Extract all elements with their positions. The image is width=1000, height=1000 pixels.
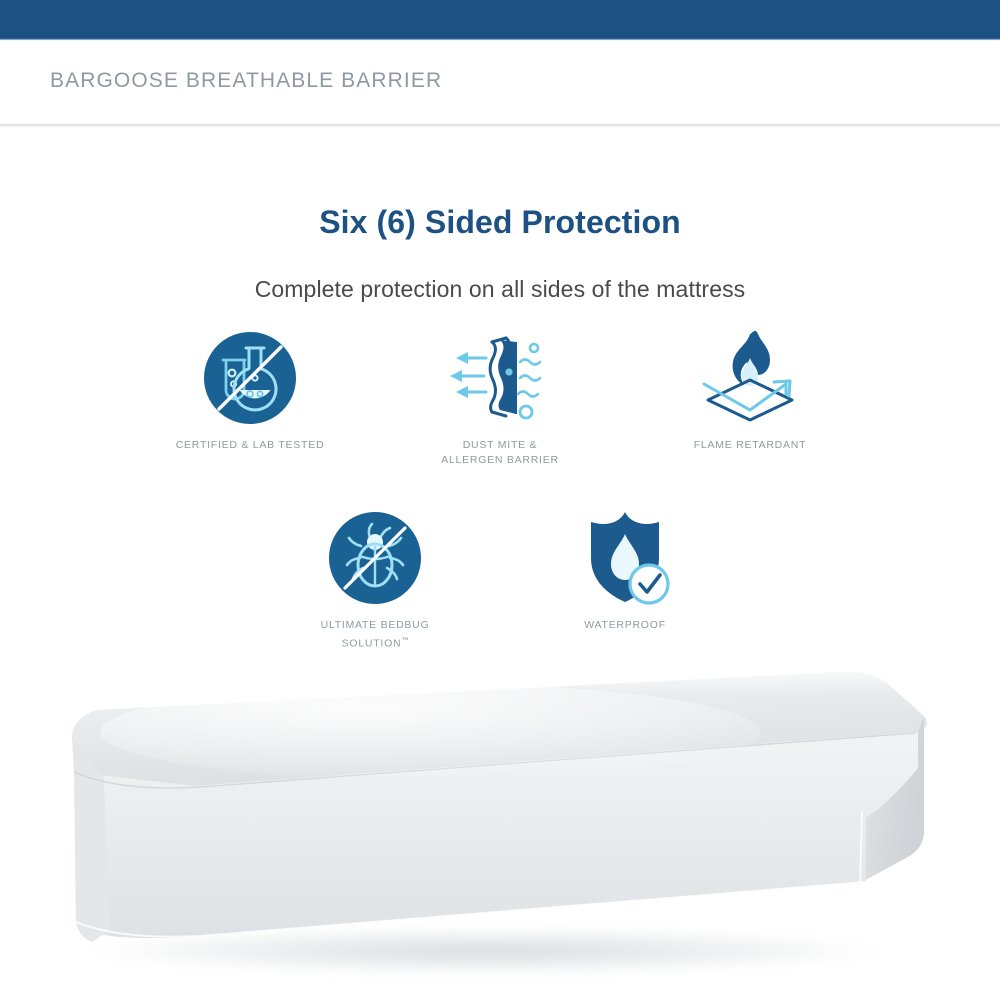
fabric-barrier-icon	[448, 328, 552, 428]
feature-label-text: ULTIMATE BEDBUG SOLUTION	[321, 619, 430, 650]
feature-label: CERTIFIED & LAB TESTED	[176, 438, 325, 453]
feature-row-2: ULTIMATE BEDBUG SOLUTION™ WATERPROOF	[0, 506, 1000, 652]
mattress-shadow	[90, 928, 880, 974]
main-content: Six (6) Sided Protection Complete protec…	[0, 128, 1000, 668]
page-title: BARGOOSE BREATHABLE BARRIER	[50, 69, 442, 93]
feature-dust-mite-allergen-barrier[interactable]: DUST MITE & ALLERGEN BARRIER	[375, 326, 625, 468]
mattress-illustration	[0, 660, 1000, 1000]
flame-icon	[698, 328, 802, 428]
feature-label: FLAME RETARDANT	[694, 438, 807, 453]
feature-row-1: CERTIFIED & LAB TESTED	[0, 326, 1000, 468]
headline: Six (6) Sided Protection	[0, 204, 1000, 241]
lab-flask-icon	[202, 330, 298, 426]
product-image	[0, 660, 1000, 1000]
title-band: BARGOOSE BREATHABLE BARRIER	[0, 41, 1000, 125]
feature-icon-slot	[573, 506, 677, 610]
feature-label: ULTIMATE BEDBUG SOLUTION™	[321, 618, 430, 652]
subheadline: Complete protection on all sides of the …	[0, 276, 1000, 303]
feature-icon-slot	[698, 326, 802, 430]
feature-certified-lab-tested[interactable]: CERTIFIED & LAB TESTED	[125, 326, 375, 468]
feature-icon-slot	[202, 326, 298, 430]
feature-label: DUST MITE & ALLERGEN BARRIER	[441, 438, 559, 468]
bedbug-icon	[327, 510, 423, 606]
feature-icon-slot	[448, 326, 552, 430]
product-feature-page: BARGOOSE BREATHABLE BARRIER Six (6) Side…	[0, 0, 1000, 1000]
feature-label: WATERPROOF	[584, 618, 666, 633]
feature-waterproof[interactable]: WATERPROOF	[500, 506, 750, 652]
top-accent-bar	[0, 0, 1000, 38]
feature-flame-retardant[interactable]: FLAME RETARDANT	[625, 326, 875, 468]
shield-droplet-icon	[573, 508, 677, 608]
feature-icon-slot	[327, 506, 423, 610]
trademark-symbol: ™	[401, 637, 408, 644]
feature-ultimate-bedbug-solution[interactable]: ULTIMATE BEDBUG SOLUTION™	[250, 506, 500, 652]
